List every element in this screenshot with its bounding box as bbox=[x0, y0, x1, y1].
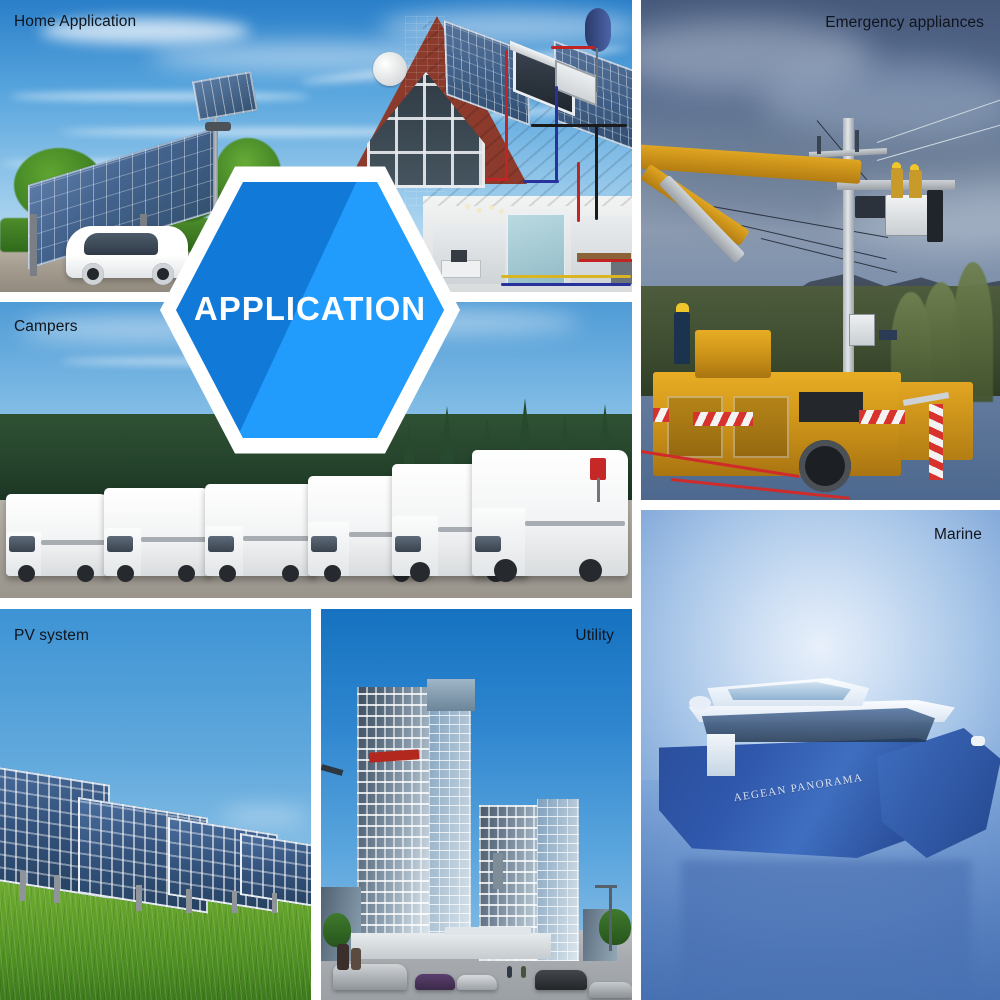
ship-reflection bbox=[681, 860, 971, 1000]
lineman bbox=[891, 168, 903, 198]
lineman bbox=[909, 170, 922, 198]
panel-utility[interactable]: Utility bbox=[321, 609, 632, 1000]
hot-pipe bbox=[579, 259, 632, 262]
application-collage: Home Application bbox=[0, 0, 1000, 1000]
panel-label-emergency-appliances: Emergency appliances bbox=[825, 14, 984, 32]
panel-label-home-application: Home Application bbox=[14, 13, 136, 31]
stop-sign bbox=[590, 458, 606, 480]
mast-base bbox=[689, 696, 711, 710]
mounting-leg bbox=[186, 889, 192, 913]
worker-bucket bbox=[885, 194, 933, 236]
panel-label-campers: Campers bbox=[14, 318, 78, 336]
pedestrian bbox=[337, 944, 349, 970]
truck-turret bbox=[695, 330, 771, 378]
carport-post bbox=[30, 214, 37, 276]
hazard-stripe bbox=[859, 410, 905, 424]
mounting-leg bbox=[232, 891, 237, 913]
hot-pipe bbox=[551, 46, 595, 49]
hot-pipe bbox=[485, 178, 509, 181]
satellite-dish bbox=[373, 52, 407, 86]
rv-motorhome bbox=[104, 488, 212, 576]
hot-pipe bbox=[577, 162, 580, 222]
parked-car bbox=[535, 970, 587, 990]
canopy bbox=[445, 927, 531, 935]
grass-clump bbox=[953, 262, 993, 402]
parked-car bbox=[457, 975, 497, 990]
tool-locker bbox=[733, 396, 789, 458]
electric-conduit bbox=[595, 124, 598, 220]
electric-conduit bbox=[531, 124, 627, 127]
hard-hat bbox=[910, 164, 919, 170]
cold-pipe bbox=[501, 283, 631, 286]
small-solar-panel bbox=[879, 330, 897, 340]
control-cabinet bbox=[849, 314, 875, 346]
rv-motorhome bbox=[205, 484, 317, 576]
panel-label-utility: Utility bbox=[575, 627, 614, 645]
bow-fitting bbox=[971, 736, 985, 746]
street-tree bbox=[599, 909, 631, 945]
mounting-leg bbox=[272, 893, 277, 913]
hard-hat bbox=[892, 162, 901, 168]
equipment bbox=[927, 190, 943, 242]
ground-worker bbox=[674, 312, 690, 364]
hot-pipe bbox=[505, 50, 508, 180]
lamp-head bbox=[205, 122, 231, 131]
truck-bed-shadow bbox=[799, 392, 863, 422]
insulator bbox=[855, 130, 859, 152]
street-light-arm bbox=[595, 885, 617, 888]
oven bbox=[611, 262, 632, 284]
street-light-pole bbox=[609, 887, 612, 951]
badge-title: APPLICATION bbox=[160, 290, 460, 328]
panel-pv-system[interactable]: PV system bbox=[0, 609, 311, 1000]
parked-car bbox=[589, 982, 632, 998]
boarding-ladder bbox=[707, 734, 735, 776]
mounting-leg bbox=[20, 871, 26, 901]
cold-pipe bbox=[523, 180, 559, 183]
panel-label-pv-system: PV system bbox=[14, 627, 89, 645]
hazard-stripe bbox=[653, 408, 669, 422]
pedestrian bbox=[507, 966, 512, 978]
panel-label-marine: Marine bbox=[934, 526, 982, 544]
podium-entrance bbox=[351, 933, 551, 959]
sign-post bbox=[597, 478, 600, 502]
mounting-leg bbox=[54, 875, 60, 903]
mounting-leg bbox=[136, 885, 142, 911]
tool-locker bbox=[667, 396, 723, 458]
rv-motorhome bbox=[6, 494, 110, 576]
hazard-stripe bbox=[693, 412, 753, 426]
pedestrian bbox=[351, 948, 361, 970]
panel-emergency-appliances[interactable]: Emergency appliances bbox=[641, 0, 1000, 500]
cloud bbox=[220, 809, 310, 823]
hard-hat bbox=[676, 303, 689, 312]
turbine-mast bbox=[596, 48, 598, 92]
facade-accent bbox=[493, 853, 503, 889]
pedestrian bbox=[521, 966, 526, 978]
insulator bbox=[817, 136, 821, 154]
cold-pipe bbox=[555, 86, 558, 182]
panel-marine[interactable]: AEGEAN PANORAMA Marine bbox=[641, 510, 1000, 1000]
hazard-stripe bbox=[929, 404, 943, 480]
parked-car bbox=[415, 974, 455, 990]
application-hexagon-badge: APPLICATION bbox=[160, 162, 460, 458]
gas-pipe bbox=[501, 275, 631, 278]
tower-glass-facade bbox=[429, 685, 471, 959]
rooftop-crown bbox=[427, 679, 475, 711]
truck-wheel bbox=[799, 440, 851, 492]
street-tree bbox=[323, 913, 351, 947]
office-tower-primary bbox=[357, 687, 433, 959]
